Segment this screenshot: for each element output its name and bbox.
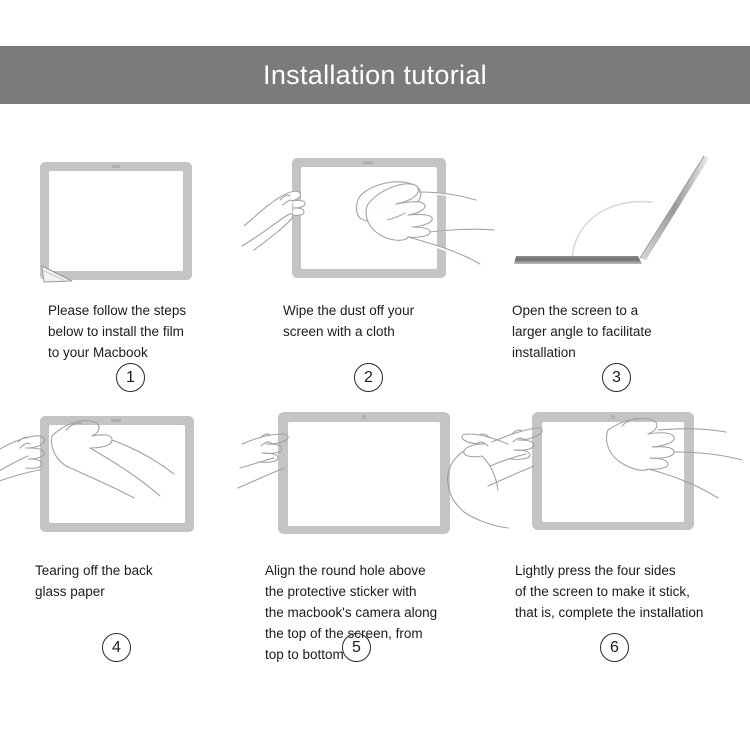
step-2-illustration <box>250 138 500 278</box>
step-6-number: 6 <box>600 633 629 662</box>
steps-grid: Please follow the steps below to install… <box>0 118 750 688</box>
step-2-caption: Wipe the dust off your screen with a clo… <box>283 300 500 342</box>
page-title: Installation tutorial <box>263 60 487 91</box>
step-1-caption: Please follow the steps below to install… <box>48 300 250 363</box>
step-6-caption: Lightly press the four sides of the scre… <box>515 560 750 623</box>
step-5-number: 5 <box>342 633 371 662</box>
step-3-illustration <box>500 138 750 278</box>
step-panel-2: Wipe the dust off your screen with a clo… <box>250 118 500 388</box>
step-4-illustration <box>0 398 250 538</box>
step-3-caption: Open the screen to a larger angle to fac… <box>512 300 750 363</box>
installation-tutorial-page: Installation tutorial Please follow the … <box>0 0 750 750</box>
step-5-caption: Align the round hole above the protectiv… <box>265 560 500 665</box>
step-panel-1: Please follow the steps below to install… <box>0 118 250 388</box>
step-5-illustration <box>250 398 500 538</box>
step-panel-6: Lightly press the four sides of the scre… <box>500 388 750 688</box>
step-4-number: 4 <box>102 633 131 662</box>
step-panel-5: Align the round hole above the protectiv… <box>250 388 500 688</box>
header-banner: Installation tutorial <box>0 46 750 104</box>
step-panel-3: Open the screen to a larger angle to fac… <box>500 118 750 388</box>
step-1-illustration <box>0 138 250 278</box>
step-6-illustration <box>500 398 750 538</box>
step-panel-4: Tearing off the back glass paper 4 <box>0 388 250 688</box>
step-4-caption: Tearing off the back glass paper <box>35 560 250 602</box>
